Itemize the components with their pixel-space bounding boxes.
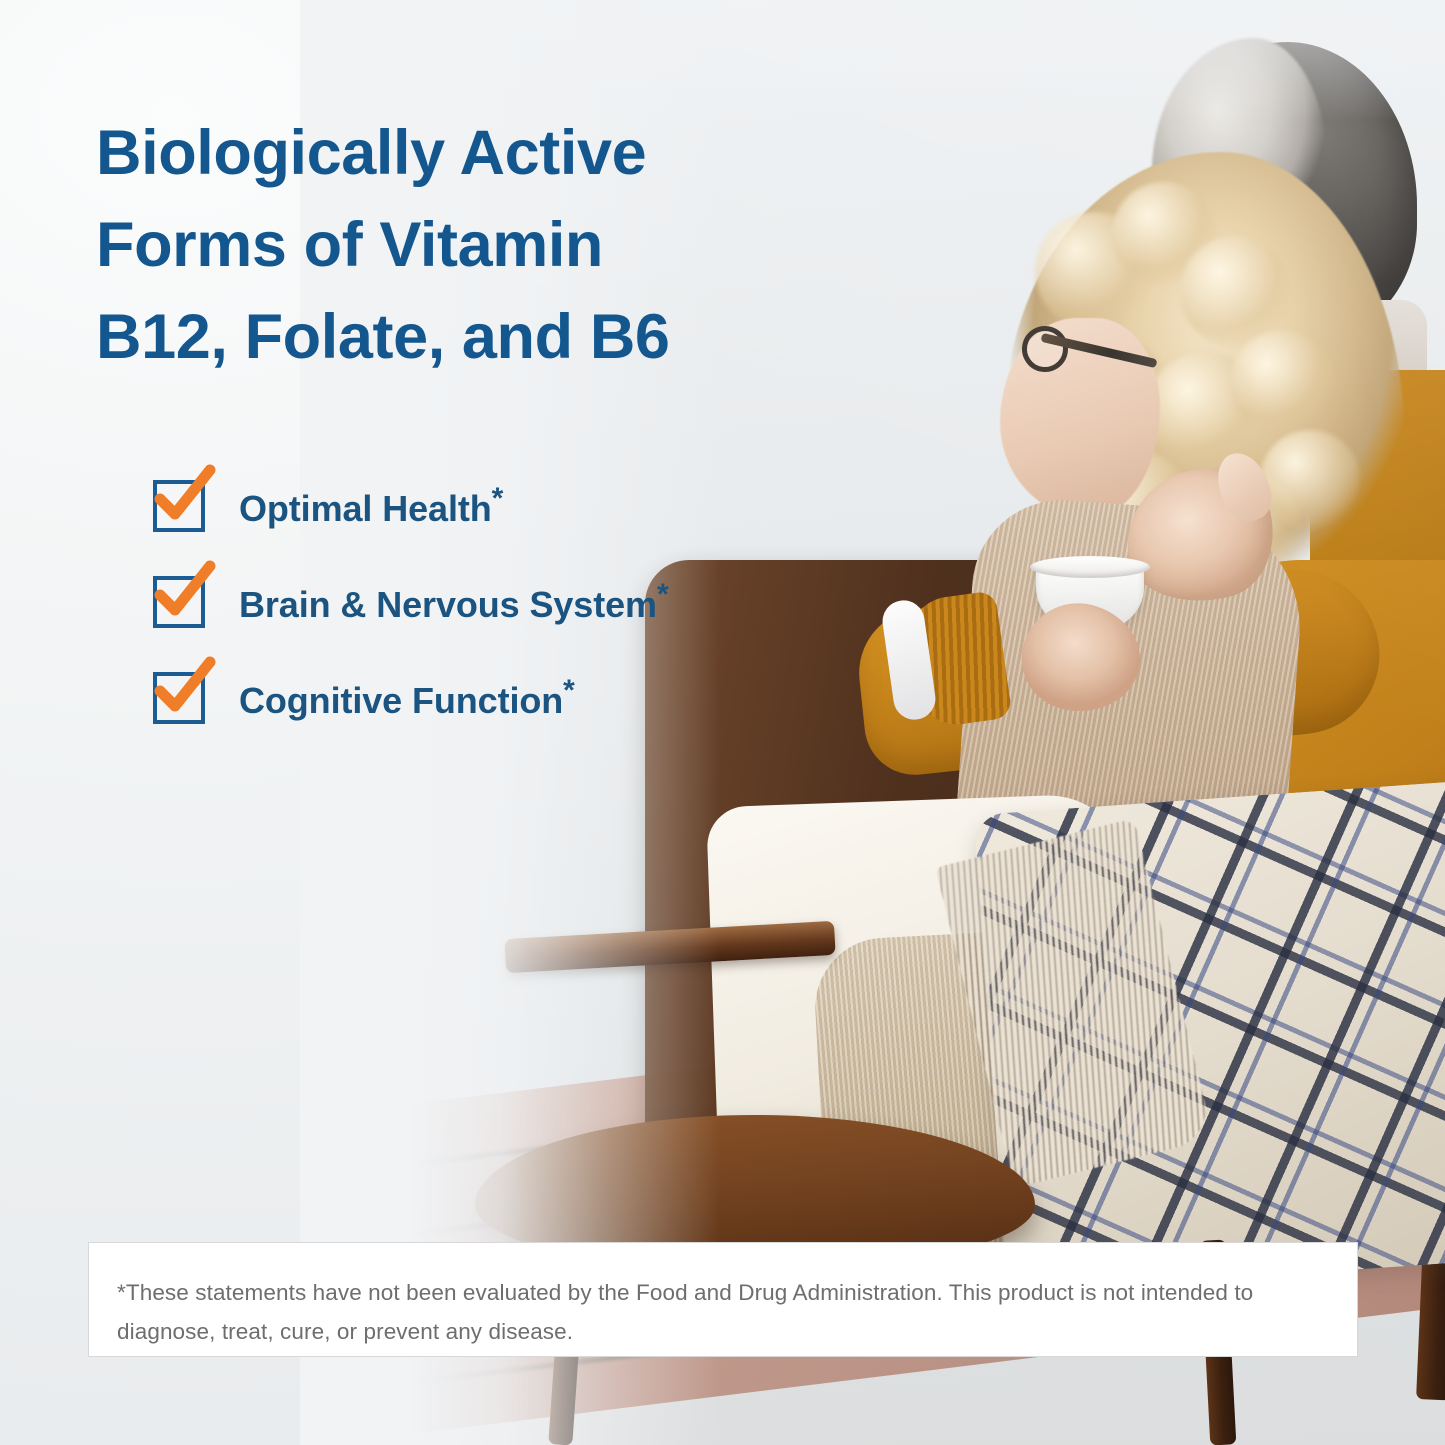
benefit-item-brain-nervous-system: Brain & Nervous System*	[153, 554, 669, 650]
fda-disclaimer-box: *These statements have not been evaluate…	[88, 1242, 1358, 1357]
benefit-label: Brain & Nervous System*	[239, 578, 669, 626]
headline-line-3: B12, Folate, and B6	[96, 292, 916, 384]
benefit-item-cognitive-function: Cognitive Function*	[153, 650, 669, 746]
fda-disclaimer-text: *These statements have not been evaluate…	[117, 1273, 1329, 1351]
benefits-list: Optimal Health* Brain & Nervous System* …	[153, 458, 669, 746]
headline-line-1: Biologically Active	[96, 108, 916, 200]
promo-image-canvas: Biologically Active Forms of Vitamin B12…	[0, 0, 1445, 1445]
page-title: Biologically Active Forms of Vitamin B12…	[96, 108, 916, 384]
benefit-item-optimal-health: Optimal Health*	[153, 458, 669, 554]
headline-line-2: Forms of Vitamin	[96, 200, 916, 292]
checkbox-checked-icon	[153, 576, 205, 628]
checkbox-checked-icon	[153, 672, 205, 724]
checkbox-checked-icon	[153, 480, 205, 532]
benefit-label: Optimal Health*	[239, 482, 503, 530]
benefit-label: Cognitive Function*	[239, 674, 575, 722]
